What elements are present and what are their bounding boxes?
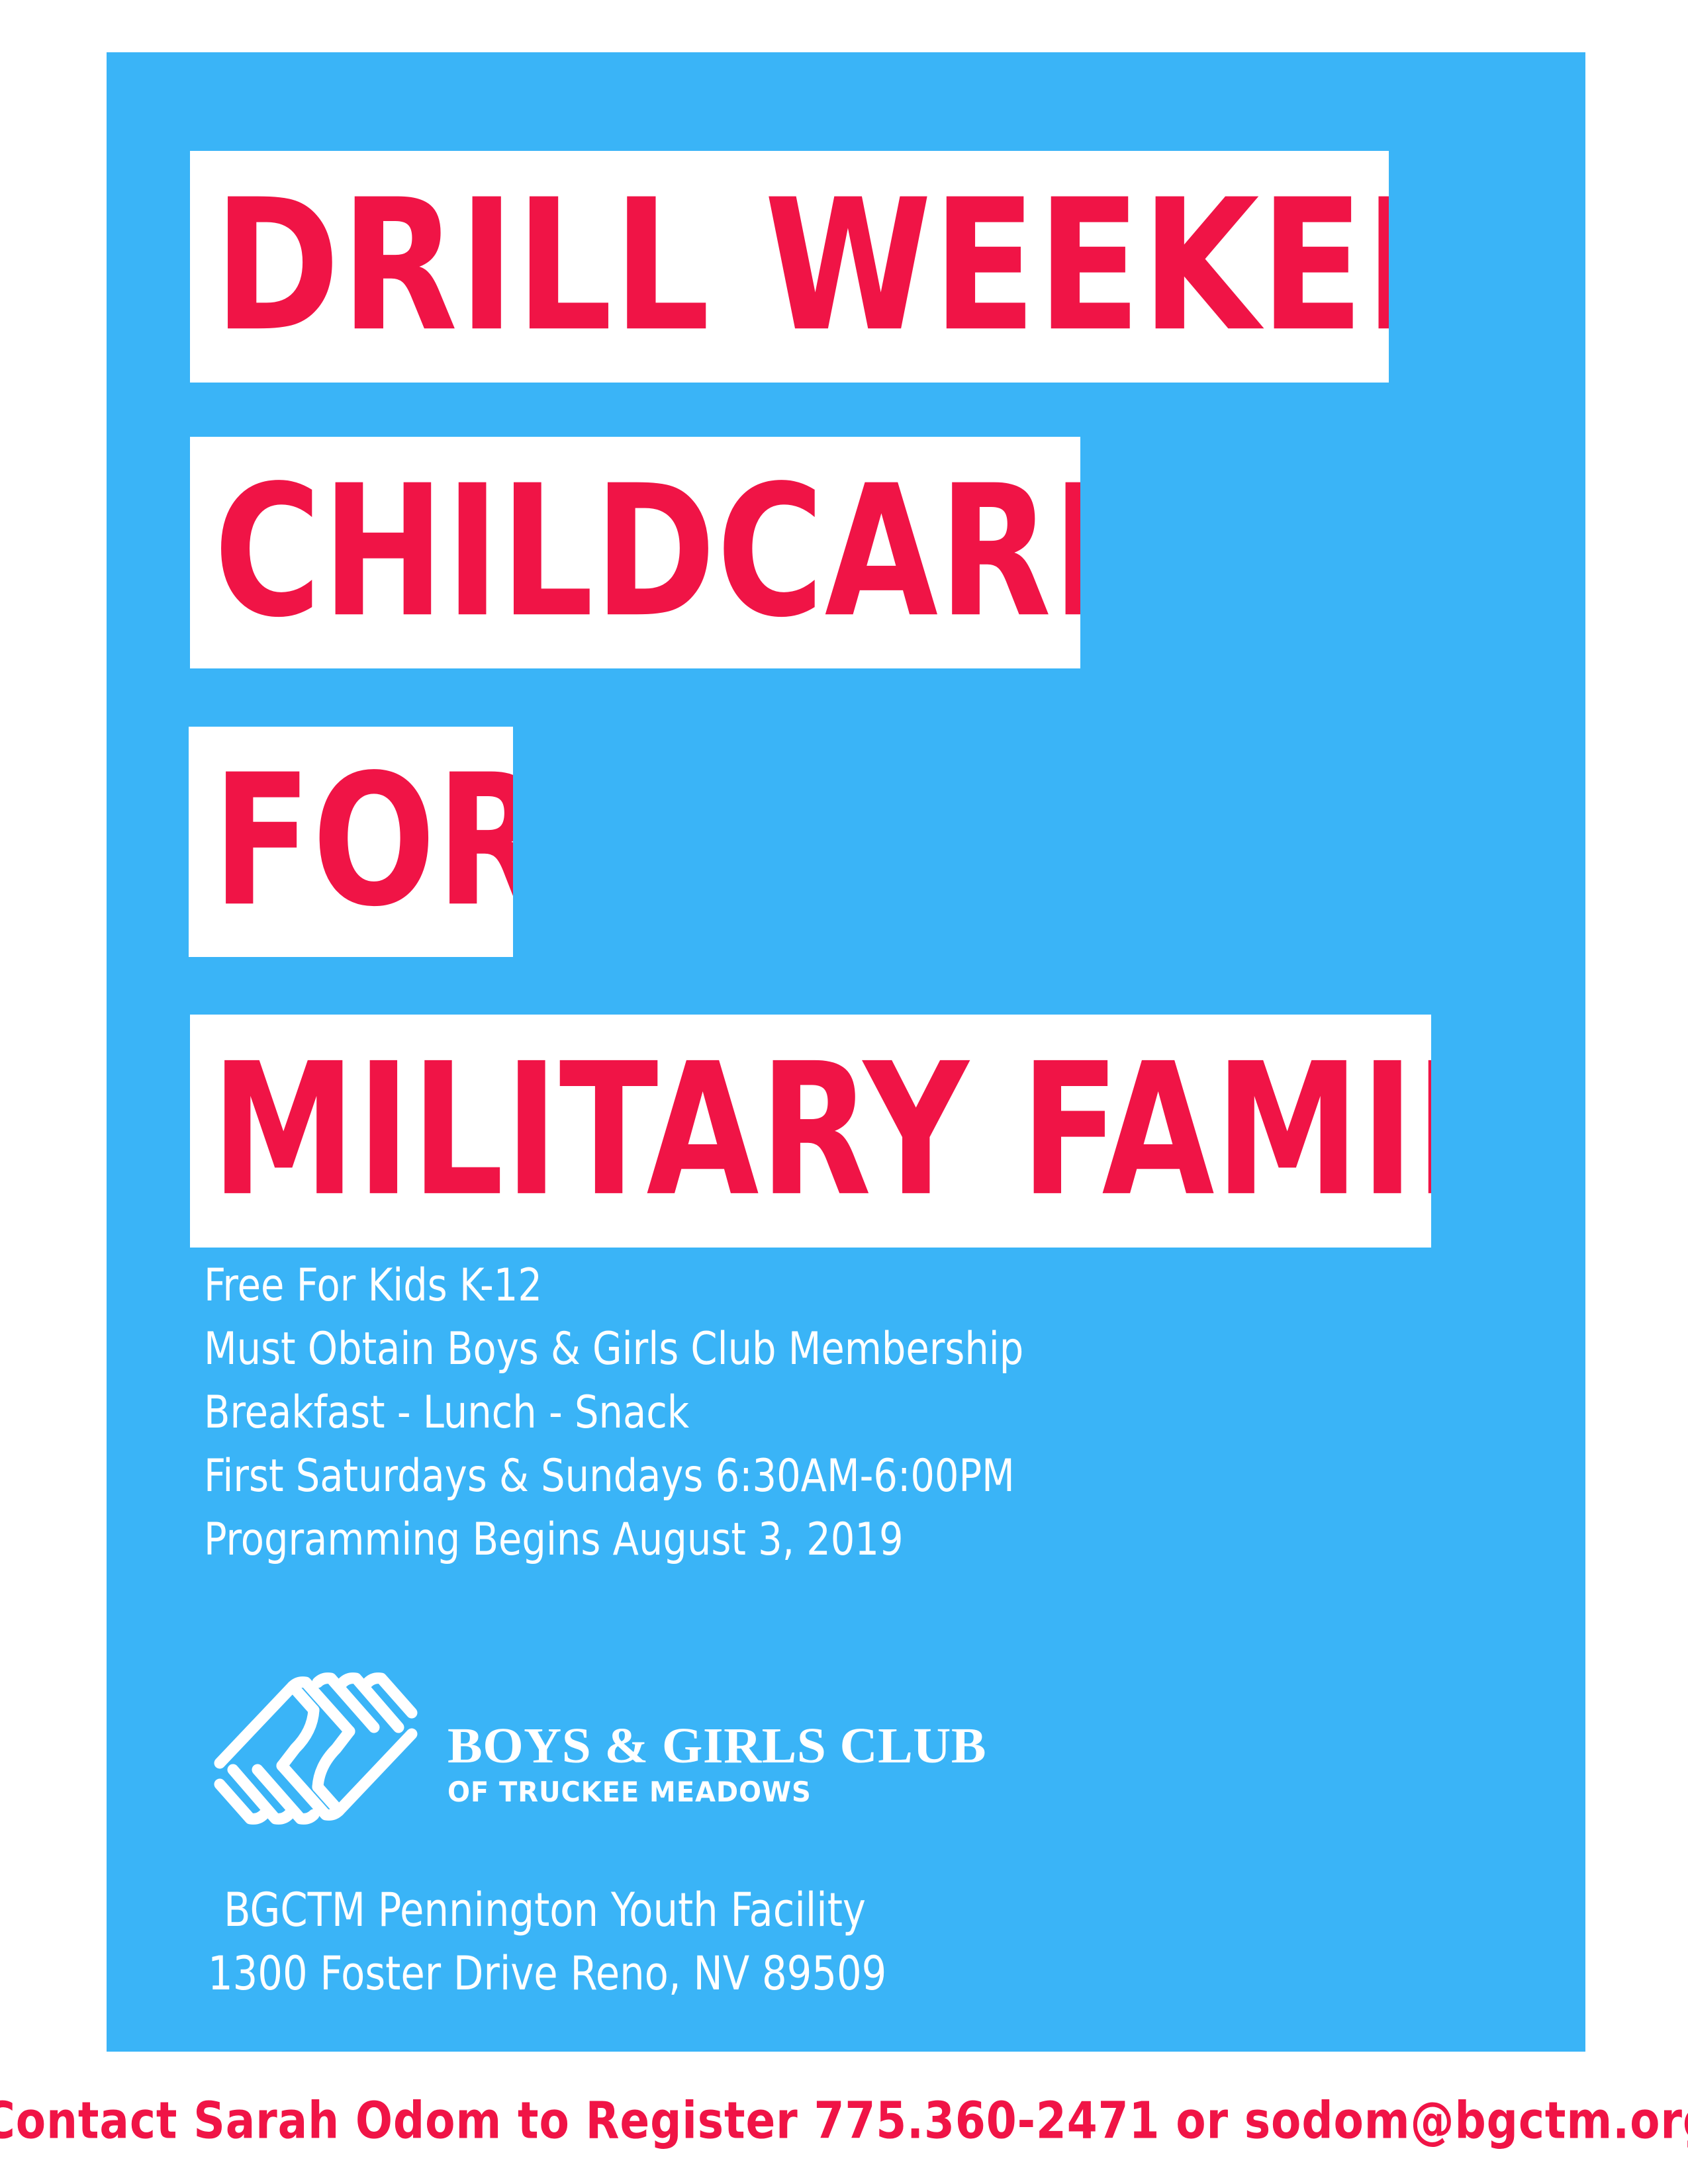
clasping-hands-icon — [213, 1649, 418, 1848]
detail-line-membership: Must Obtain Boys & Girls Club Membership — [204, 1318, 1386, 1381]
detail-line-schedule: First Saturdays & Sundays 6:30AM-6:00PM — [204, 1445, 1386, 1508]
boys-and-girls-club-logo: BOYS & GIRLS CLUB OF TRUCKEE MEADOWS — [213, 1649, 966, 1848]
contact-registration-text: Contact Sarah Odom to Register 775.360-2… — [0, 2092, 1688, 2150]
headline-for: FOR — [212, 769, 513, 914]
headline-military-families: MILITARY FAMILIES — [211, 1058, 1431, 1205]
headline-childcare: CHILDCARE — [214, 480, 1080, 625]
venue-address-block: BGCTM Pennington Youth Facility 1300 Fos… — [224, 1878, 1415, 2005]
headline-drill-weekend: DRILL WEEKEND — [214, 194, 1389, 339]
logo-wordmark: BOYS & GIRLS CLUB OF TRUCKEE MEADOWS — [447, 1688, 966, 1809]
logo-club-name: BOYS & GIRLS CLUB — [447, 1720, 986, 1772]
headline-band-childcare: CHILDCARE — [190, 437, 1080, 668]
detail-line-eligibility: Free For Kids K-12 — [204, 1254, 1386, 1318]
detail-line-start-date: Programming Begins August 3, 2019 — [204, 1508, 1386, 1572]
venue-street-address: 1300 Foster Drive Reno, NV 89509 — [208, 1942, 1343, 2005]
headline-band-military-families: MILITARY FAMILIES — [190, 1015, 1431, 1248]
detail-line-meals: Breakfast - Lunch - Snack — [204, 1381, 1386, 1445]
logo-chapter-name: OF TRUCKEE MEADOWS — [447, 1776, 997, 1809]
footer-contact-bar: Contact Sarah Odom to Register 775.360-2… — [0, 2093, 1688, 2148]
program-details-list: Free For Kids K-12 Must Obtain Boys & Gi… — [204, 1254, 1462, 1572]
headline-band-for: FOR — [189, 727, 513, 957]
headline-band-drill-weekend: DRILL WEEKEND — [190, 151, 1389, 383]
venue-name: BGCTM Pennington Youth Facility — [224, 1878, 1344, 1942]
